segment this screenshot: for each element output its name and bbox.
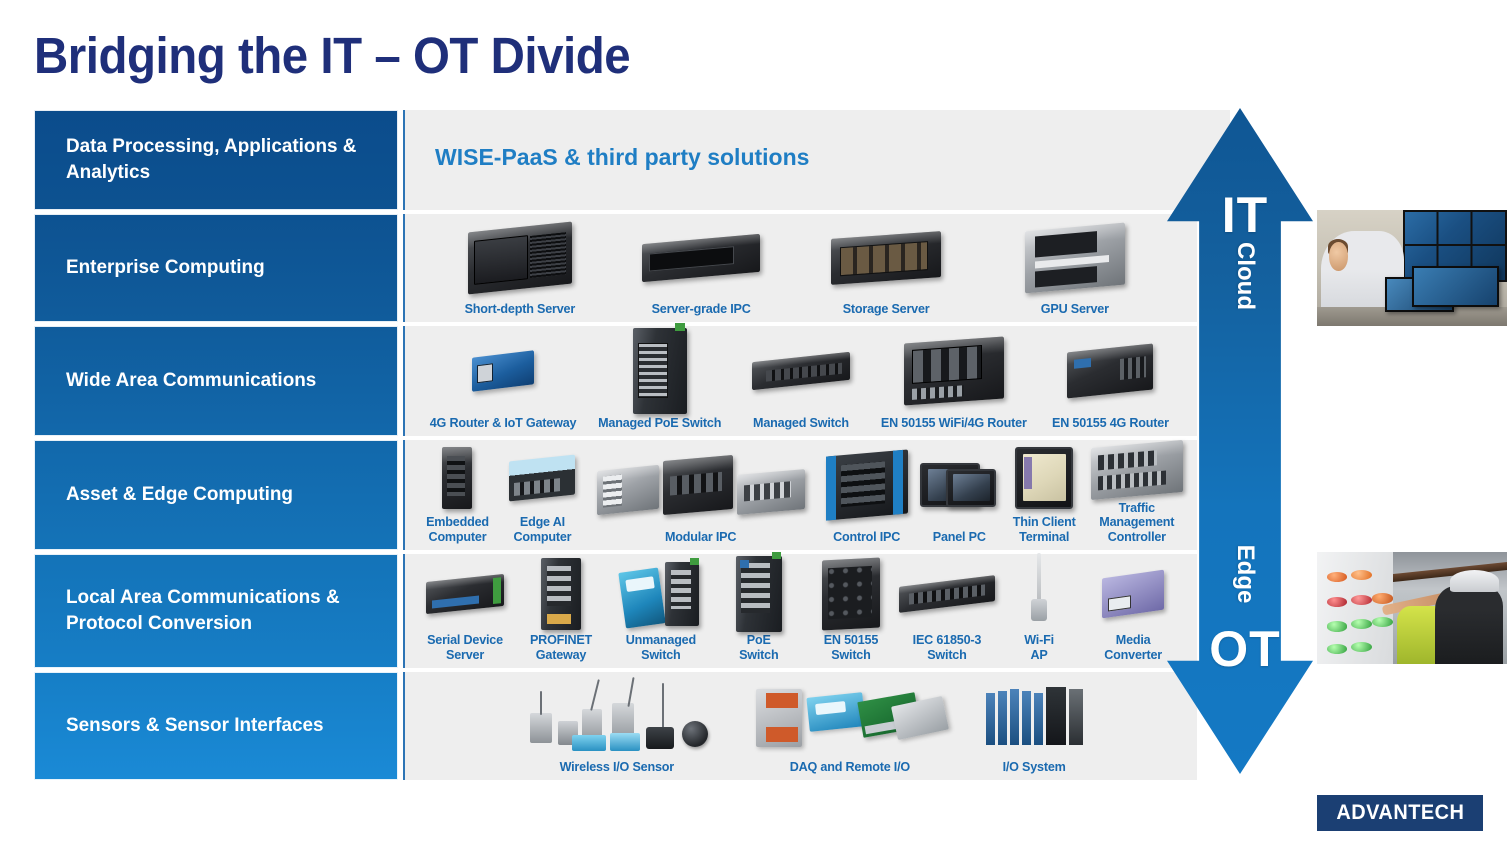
content-panel-wide-area-communications: 4G Router & IoT Gateway Managed PoE Swit…: [403, 326, 1197, 436]
layer-label-text: Wide Area Communications: [66, 368, 316, 394]
product-caption: DAQ and Remote I/O: [790, 760, 910, 774]
4g-router-image: [419, 326, 587, 416]
product-caption: Wi-Fi AP: [1024, 633, 1054, 662]
serial-device-server-image: [417, 554, 513, 633]
factory-technicians-photo: [1317, 552, 1507, 664]
product-caption: Modular IPC: [665, 530, 736, 544]
product-traffic-management-controller[interactable]: Traffic Management Controller: [1087, 440, 1187, 550]
product-caption: PoE Switch: [739, 633, 778, 662]
content-panel-asset-edge-computing: Embedded Computer Edge AI Computer: [403, 440, 1197, 550]
product-modular-ipc[interactable]: Modular IPC: [585, 440, 817, 550]
product-control-ipc[interactable]: Control IPC: [816, 440, 916, 550]
advantech-logo: ADVANTECH: [1317, 795, 1483, 831]
layer-label-text: Local Area Communications & Protocol Con…: [66, 585, 388, 636]
product-unmanaged-switch[interactable]: Unmanaged Switch: [609, 554, 713, 668]
layer-row-wide-area-communications: Wide Area Communications 4G Router & IoT…: [0, 326, 1507, 436]
layer-label-local-area-communications: Local Area Communications & Protocol Con…: [34, 554, 398, 668]
product-gpu-server[interactable]: GPU Server: [979, 214, 1171, 322]
product-panel-pc[interactable]: Panel PC: [917, 440, 1002, 550]
layer-label-text: Sensors & Sensor Interfaces: [66, 713, 324, 739]
layer-label-enterprise-computing: Enterprise Computing: [34, 214, 398, 322]
layer-label-text: Enterprise Computing: [66, 255, 265, 281]
product-caption: PROFINET Gateway: [530, 633, 592, 662]
product-thin-client-terminal[interactable]: Thin Client Terminal: [1002, 440, 1087, 550]
content-panel-data-processing: WISE-PaaS & third party solutions: [403, 110, 1230, 210]
edge-ai-computer-image: [500, 440, 585, 515]
layer-label-wide-area-communications: Wide Area Communications: [34, 326, 398, 436]
traffic-management-controller-image: [1087, 440, 1187, 501]
layer-row-asset-edge-computing: Asset & Edge Computing Embedded Computer: [0, 440, 1507, 550]
arrow-label-cloud: Cloud: [1231, 236, 1259, 316]
product-wifi-ap[interactable]: Wi-Fi AP: [997, 554, 1081, 668]
gpu-server-image: [979, 214, 1171, 302]
product-iec61850-3-switch[interactable]: IEC 61850-3 Switch: [897, 554, 997, 668]
product-caption: EN 50155 Switch: [824, 633, 878, 662]
product-io-system[interactable]: I/O System: [959, 672, 1109, 780]
product-caption: Serial Device Server: [427, 633, 503, 662]
slide-canvas: Bridging the IT – OT Divide Data Process…: [0, 0, 1507, 848]
product-en50155-switch[interactable]: EN 50155 Switch: [805, 554, 897, 668]
product-wireless-io-sensor[interactable]: Wireless I/O Sensor: [493, 672, 741, 780]
control-ipc-image: [816, 440, 916, 530]
product-caption: Storage Server: [843, 302, 930, 316]
product-daq-remote-io[interactable]: DAQ and Remote I/O: [741, 672, 959, 780]
layer-label-data-processing: Data Processing, Applications & Analytic…: [34, 110, 398, 210]
media-converter-image: [1081, 554, 1185, 633]
unmanaged-switch-image: [609, 554, 713, 633]
product-caption: Embedded Computer: [426, 515, 489, 544]
content-panel-sensors: Wireless I/O Sensor: [403, 672, 1197, 780]
en50155-wifi-4g-router-image: [870, 326, 1038, 416]
arrow-label-ot: OT: [1205, 620, 1285, 678]
product-caption: EN 50155 WiFi/4G Router: [881, 416, 1027, 430]
managed-poe-switch-image: [587, 326, 732, 416]
product-serial-device-server[interactable]: Serial Device Server: [417, 554, 513, 668]
daq-remote-io-image: [741, 672, 959, 760]
product-caption: GPU Server: [1041, 302, 1109, 316]
short-depth-server-image: [431, 214, 609, 302]
wireless-io-sensor-image: [493, 672, 741, 760]
managed-switch-image: [732, 326, 870, 416]
layer-label-text: Data Processing, Applications & Analytic…: [66, 134, 388, 185]
product-short-depth-server[interactable]: Short-depth Server: [431, 214, 609, 322]
product-caption: Panel PC: [933, 530, 986, 544]
product-caption: IEC 61850-3 Switch: [913, 633, 982, 662]
layer-label-sensors: Sensors & Sensor Interfaces: [34, 672, 398, 780]
wifi-ap-image: [997, 553, 1081, 633]
product-server-grade-ipc[interactable]: Server-grade IPC: [609, 214, 794, 322]
product-embedded-computer[interactable]: Embedded Computer: [415, 440, 500, 550]
io-system-image: [959, 672, 1109, 760]
content-panel-enterprise-computing: Short-depth Server Server-grade IPC: [403, 214, 1197, 322]
product-caption: Edge AI Computer: [513, 515, 571, 544]
layer-label-asset-edge-computing: Asset & Edge Computing: [34, 440, 398, 550]
product-storage-server[interactable]: Storage Server: [794, 214, 979, 322]
product-caption: Managed PoE Switch: [598, 416, 721, 430]
advantech-logo-text: ADVANTECH: [1336, 801, 1464, 825]
product-media-converter[interactable]: Media Converter: [1081, 554, 1185, 668]
modular-ipc-image: [585, 440, 817, 530]
product-managed-switch[interactable]: Managed Switch: [732, 326, 870, 436]
product-caption: Control IPC: [833, 530, 900, 544]
embedded-computer-image: [415, 440, 500, 515]
panel-pc-image: [917, 440, 1002, 530]
product-caption: Wireless I/O Sensor: [560, 760, 674, 774]
product-4g-router-iot-gateway[interactable]: 4G Router & IoT Gateway: [419, 326, 587, 436]
product-caption: EN 50155 4G Router: [1052, 416, 1169, 430]
profinet-gateway-image: [513, 554, 609, 633]
poe-switch-image: [713, 554, 805, 633]
wise-paas-heading: WISE-PaaS & third party solutions: [435, 144, 809, 171]
thin-client-terminal-image: [1002, 440, 1087, 515]
product-caption: Traffic Management Controller: [1087, 501, 1187, 544]
product-caption: Short-depth Server: [465, 302, 575, 316]
product-caption: Unmanaged Switch: [626, 633, 696, 662]
layer-label-text: Asset & Edge Computing: [66, 482, 293, 508]
product-caption: Thin Client Terminal: [1013, 515, 1076, 544]
en50155-switch-image: [805, 554, 897, 633]
page-title: Bridging the IT – OT Divide: [34, 26, 630, 85]
product-caption: Managed Switch: [753, 416, 849, 430]
product-managed-poe-switch[interactable]: Managed PoE Switch: [587, 326, 732, 436]
product-en50155-wifi-4g-router[interactable]: EN 50155 WiFi/4G Router: [870, 326, 1038, 436]
product-caption: Server-grade IPC: [652, 302, 751, 316]
en50155-4g-router-image: [1038, 326, 1183, 416]
product-en50155-4g-router[interactable]: EN 50155 4G Router: [1038, 326, 1183, 436]
content-panel-local-area-communications: Serial Device Server PROFINET Gateway: [403, 554, 1197, 668]
product-caption: Media Converter: [1104, 633, 1162, 662]
storage-server-image: [794, 214, 979, 302]
arrow-label-edge: Edge: [1231, 534, 1259, 614]
server-grade-ipc-image: [609, 214, 794, 302]
product-edge-ai-computer[interactable]: Edge AI Computer: [500, 440, 585, 550]
product-caption: 4G Router & IoT Gateway: [430, 416, 577, 430]
iec61850-3-switch-image: [897, 554, 997, 633]
control-room-operator-photo: [1317, 210, 1507, 326]
product-caption: I/O System: [1003, 760, 1066, 774]
product-profinet-gateway[interactable]: PROFINET Gateway: [513, 554, 609, 668]
product-poe-switch[interactable]: PoE Switch: [713, 554, 805, 668]
